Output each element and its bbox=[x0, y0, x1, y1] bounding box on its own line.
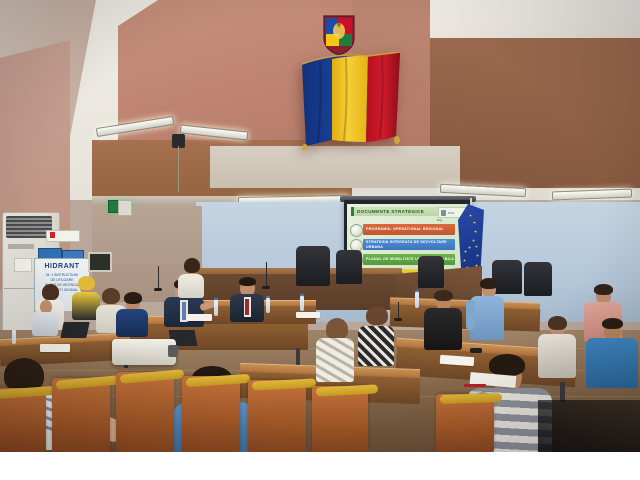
water-bottle bbox=[214, 300, 218, 316]
romanian-flag bbox=[296, 52, 406, 150]
microphone-base bbox=[262, 286, 270, 289]
air-conditioner-sticker bbox=[14, 258, 32, 272]
slide-row: PROGRAMUL OPERATIONAL REGIONAL bbox=[363, 224, 455, 235]
water-bottle bbox=[266, 298, 270, 313]
side-table-front bbox=[390, 304, 541, 331]
auditorium-seat bbox=[116, 372, 174, 452]
executive-chair bbox=[336, 250, 362, 284]
bottle-cap bbox=[214, 298, 218, 300]
hydrant-title: HIDRANT bbox=[37, 263, 87, 270]
slide-row-label: STRATEGIA INTEGRATA DE DEZVOLTARE URBANA bbox=[363, 240, 455, 249]
seat-armrest bbox=[252, 378, 316, 390]
document-paper bbox=[186, 314, 212, 321]
fire-extinguisher-icon bbox=[50, 232, 55, 238]
slide-heading-bar: DOCUMENTE STRATEGICE bbox=[351, 207, 446, 216]
cable bbox=[178, 146, 179, 192]
screenshot-canvas: HIDRANT Nr. 1 INSTRUCTIUNI DE UTILIZARE … bbox=[0, 0, 640, 480]
wall-brown-right-panel bbox=[430, 38, 640, 188]
executive-chair bbox=[492, 260, 522, 294]
water-bottle bbox=[300, 296, 304, 311]
letterbox-band-bottom bbox=[0, 452, 640, 480]
microphone-stem bbox=[158, 266, 159, 290]
slide-row: STRATEGIA INTEGRATA DE DEZVOLTARE URBANA bbox=[363, 239, 455, 250]
conference-room-photo: HIDRANT Nr. 1 INSTRUCTIUNI DE UTILIZARE … bbox=[0, 0, 640, 452]
electrical-panel bbox=[88, 252, 112, 272]
air-conditioner-label bbox=[8, 244, 34, 249]
slide-row-label: PROGRAMUL OPERATIONAL REGIONAL bbox=[363, 227, 444, 231]
document-paper bbox=[296, 312, 320, 318]
bottle-cap bbox=[415, 290, 419, 292]
microphone-base bbox=[154, 288, 162, 291]
bottle-cap bbox=[266, 296, 270, 298]
bottle-cap bbox=[300, 294, 304, 296]
seal-icon bbox=[350, 224, 363, 237]
slide-heading: DOCUMENTE STRATEGICE bbox=[354, 209, 424, 214]
auditorium-seat bbox=[248, 380, 306, 452]
auditorium-seat bbox=[182, 376, 240, 452]
logo-mark-icon bbox=[441, 210, 446, 216]
executive-chair bbox=[524, 262, 552, 296]
microphone-stem bbox=[266, 262, 267, 288]
seat-armrest bbox=[316, 384, 378, 396]
slide-logo-text: BUR bbox=[448, 211, 454, 215]
romanian-coat-of-arms bbox=[322, 14, 356, 56]
shadow-corner bbox=[538, 400, 640, 452]
slide-subnote: Reg. bbox=[437, 218, 443, 222]
executive-chair bbox=[296, 246, 330, 286]
executive-chair bbox=[418, 256, 444, 288]
microphone-base bbox=[394, 318, 402, 321]
wall-plate bbox=[118, 200, 132, 216]
wall-beige-band bbox=[210, 146, 460, 188]
water-bottle bbox=[415, 292, 419, 308]
